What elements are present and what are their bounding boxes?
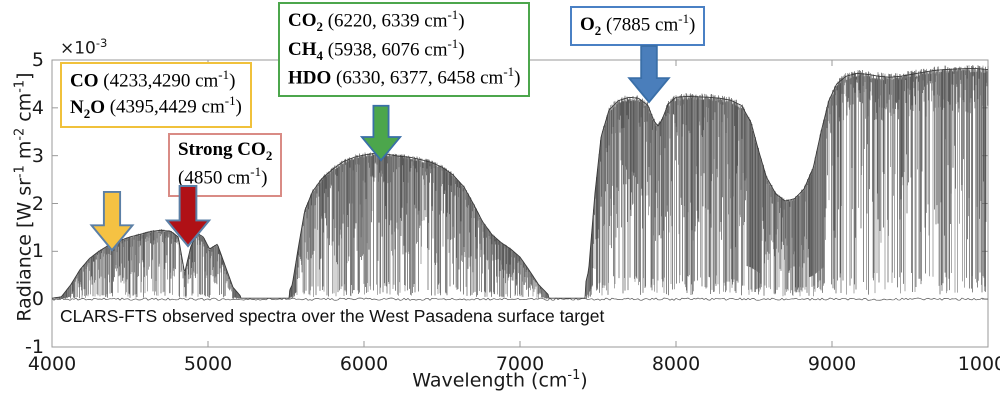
annotation-line-strong-co2: Strong CO2: [178, 138, 272, 164]
green-arrow: [358, 104, 404, 162]
annotation-box-o2: O2 (7885 cm-1): [570, 6, 705, 46]
x-tick-label: 5000: [184, 353, 232, 375]
y-tick-label: -1: [4, 336, 44, 358]
annotation-line-co: CO (4233,4290 cm-1): [70, 67, 242, 93]
x-tick-label: 6000: [340, 353, 388, 375]
y-tick-label: 3: [4, 145, 44, 167]
x-tick-label: 10000: [958, 353, 1000, 375]
species-o2: O2: [580, 14, 601, 35]
x-tick-label: 8000: [652, 353, 700, 375]
y-tick-label: 2: [4, 193, 44, 215]
annotation-box-co-n2o: CO (4233,4290 cm-1) N2O (4395,4429 cm-1): [60, 62, 252, 128]
species-n2o: N2O: [70, 97, 105, 118]
y-tick-label: 5: [4, 49, 44, 71]
spectrum-figure: ×10-3 Wavelength (cm-1) Radiance [W sr-1…: [0, 0, 1000, 403]
y-tick-label: 4: [4, 97, 44, 119]
annotation-line-co2: CO2 (6220, 6339 cm-1): [288, 7, 520, 36]
annotation-line-hdo: HDO (6330, 6377, 6458 cm-1): [288, 64, 520, 90]
annotation-line-ch4: CH4 (5938, 6076 cm-1): [288, 36, 520, 65]
y-axis-exponent: ×10-3: [60, 36, 107, 59]
annotation-line-n2o: N2O (4395,4429 cm-1): [70, 93, 242, 122]
annotation-line-o2: O2 (7885 cm-1): [580, 11, 695, 40]
x-tick-label: 7000: [496, 353, 544, 375]
species-ch4: CH4: [288, 39, 323, 60]
red-arrow: [163, 184, 213, 248]
species-co2: CO2: [288, 10, 323, 31]
y-tick-label: 1: [4, 240, 44, 262]
y-tick-label: 0: [4, 288, 44, 310]
species-co: CO: [70, 70, 99, 91]
x-tick-label: 9000: [808, 353, 856, 375]
plot-caption: CLARS-FTS observed spectra over the West…: [60, 306, 604, 327]
species-hdo: HDO: [288, 67, 331, 88]
blue-arrow: [626, 44, 672, 104]
annotation-box-co2-ch4-hdo: CO2 (6220, 6339 cm-1) CH4 (5938, 6076 cm…: [278, 2, 530, 97]
gold-arrow: [88, 190, 136, 252]
